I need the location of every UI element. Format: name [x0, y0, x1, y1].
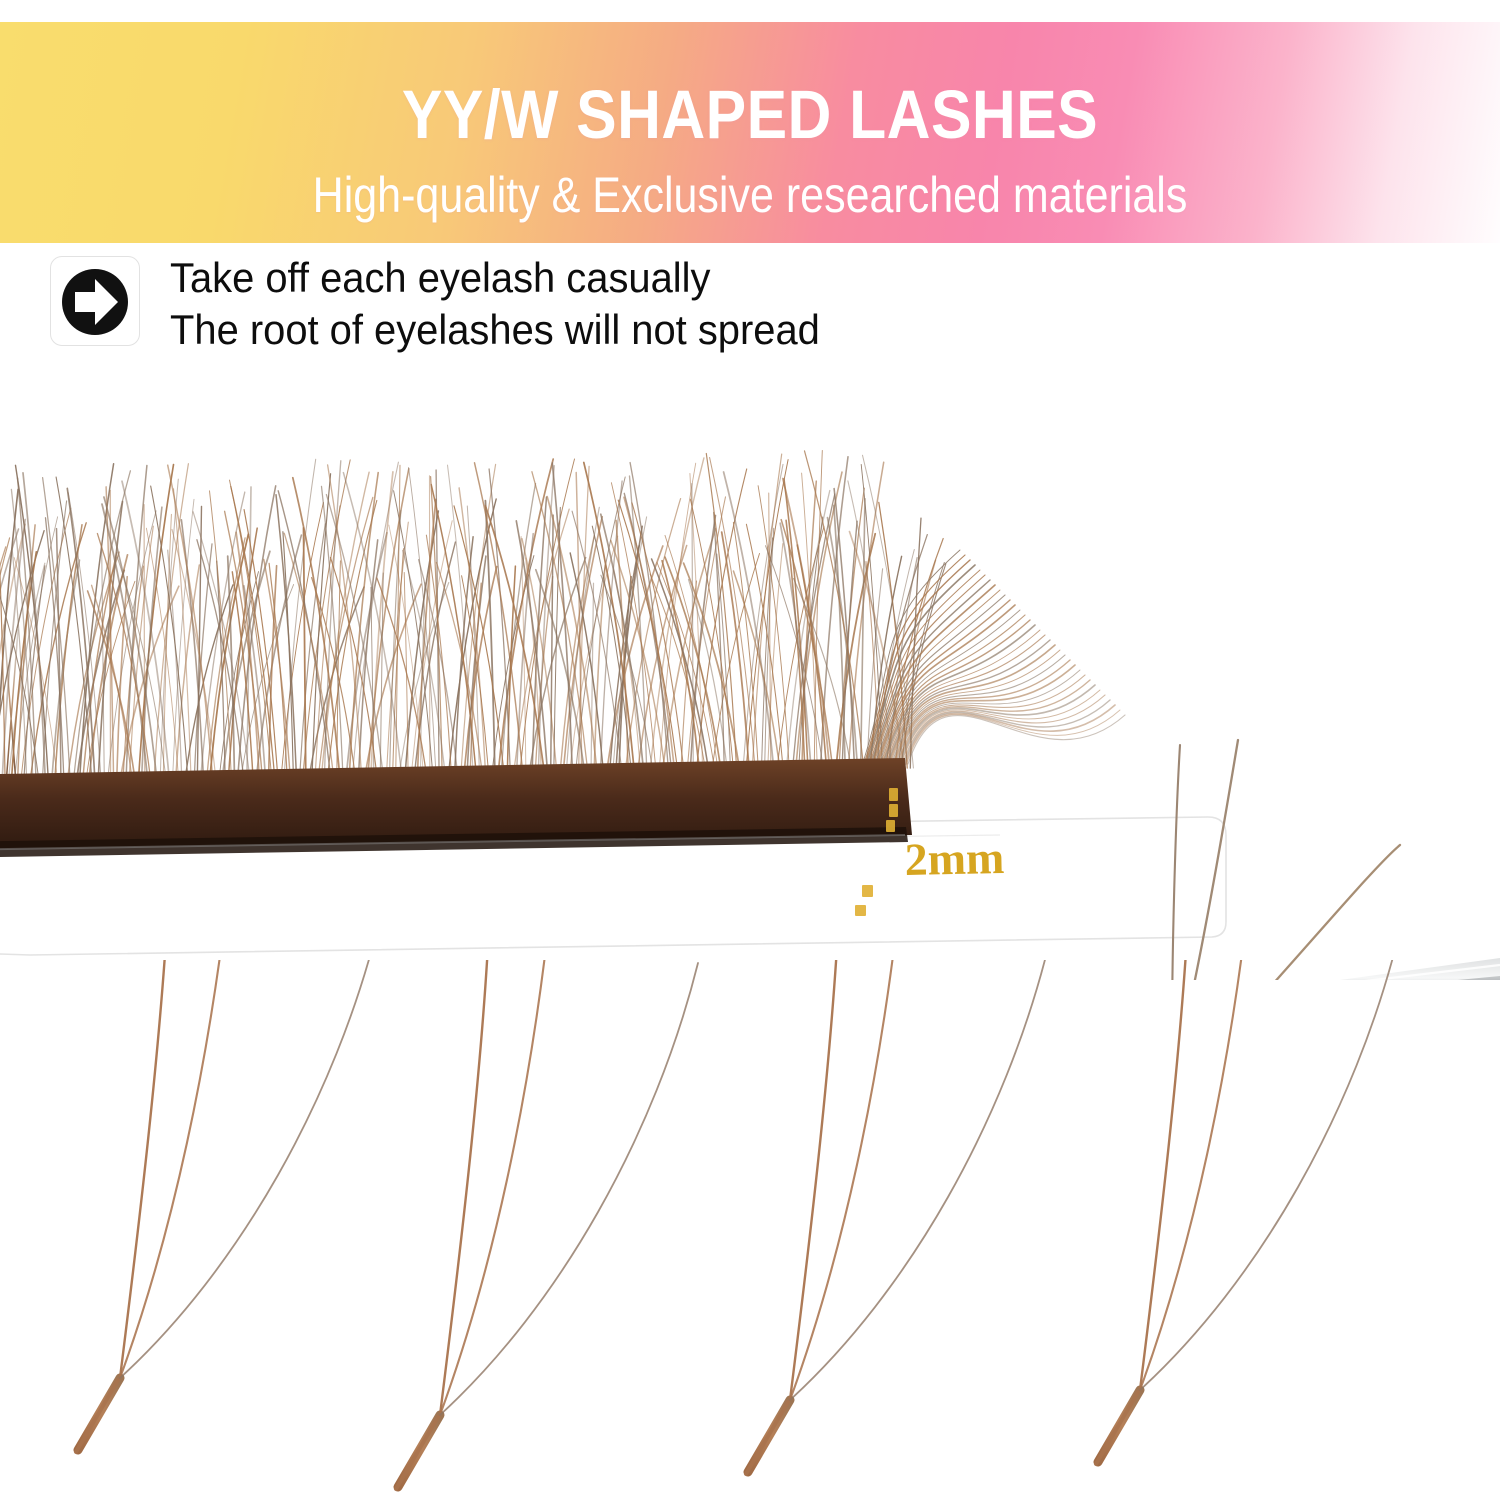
instruction-line-2: The root of eyelashes will not spread [170, 304, 820, 356]
lash-fan-item [1096, 960, 1398, 1464]
instruction-icon-box [50, 256, 140, 346]
lash-strip-illustration: 2mm [0, 380, 1500, 980]
lash-fan-item [396, 960, 698, 1489]
instruction-line-1: Take off each eyelash casually [170, 252, 820, 304]
header-banner: YY/W SHAPED LASHES High-quality & Exclus… [0, 22, 1500, 243]
lash-fan [76, 960, 1398, 1489]
lash-fans-illustration [0, 960, 1500, 1500]
lash-fan-item [746, 960, 1048, 1474]
lash-fan-row [0, 960, 1500, 1500]
lash-fibers [0, 450, 1125, 810]
page-subtitle: High-quality & Exclusive researched mate… [105, 170, 1395, 220]
product-photo: 2mm [0, 380, 1500, 980]
arrow-right-circle-icon [51, 266, 139, 338]
lash-base-band [0, 758, 912, 858]
instruction-text: Take off each eyelash casually The root … [170, 252, 820, 356]
instruction-row: Take off each eyelash casually The root … [50, 256, 1050, 356]
lash-fan-item [76, 960, 378, 1452]
card-label-text: 2mm [904, 832, 1005, 885]
page-title: YY/W SHAPED LASHES [90, 80, 1410, 149]
